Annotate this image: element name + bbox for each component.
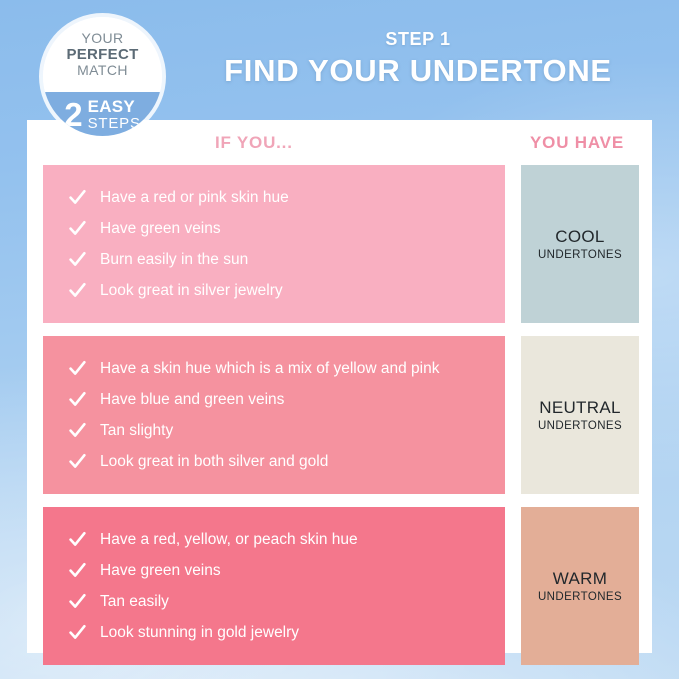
swatch-subtitle: UNDERTONES <box>538 590 622 605</box>
criteria-list: Have a red or pink skin hueHave green ve… <box>43 165 505 323</box>
badge-label-steps: STEPS <box>88 116 141 131</box>
criteria-item: Burn easily in the sun <box>69 249 485 270</box>
content-card: IF YOU... YOU HAVE Have a red or pink sk… <box>27 120 652 653</box>
criteria-item: Look great in silver jewelry <box>69 280 485 301</box>
badge-label-easy: EASY <box>88 98 141 115</box>
criteria-item: Have green veins <box>69 218 485 239</box>
criteria-text: Tan easily <box>100 591 485 612</box>
undertone-swatch: COOLUNDERTONES <box>521 165 639 323</box>
undertone-row: Have a red, yellow, or peach skin hueHav… <box>43 507 640 665</box>
badge-top-half: YOUR PERFECT MATCH <box>43 17 162 92</box>
criteria-list: Have a red, yellow, or peach skin hueHav… <box>43 507 505 665</box>
undertone-swatch: NEUTRALUNDERTONES <box>521 336 639 494</box>
check-icon <box>69 187 86 208</box>
criteria-item: Have a red, yellow, or peach skin hue <box>69 529 485 550</box>
check-icon <box>69 420 86 441</box>
criteria-text: Have a skin hue which is a mix of yellow… <box>100 358 485 379</box>
criteria-item: Have blue and green veins <box>69 389 485 410</box>
criteria-text: Have a red, yellow, or peach skin hue <box>100 529 485 550</box>
criteria-text: Look great in silver jewelry <box>100 280 485 301</box>
page-title: FIND YOUR UNDERTONE <box>168 52 668 90</box>
badge-line-your: YOUR <box>81 31 123 46</box>
swatch-subtitle: UNDERTONES <box>538 419 622 434</box>
swatch-subtitle: UNDERTONES <box>538 248 622 263</box>
criteria-text: Have blue and green veins <box>100 389 485 410</box>
criteria-item: Have a skin hue which is a mix of yellow… <box>69 358 485 379</box>
criteria-item: Look stunning in gold jewelry <box>69 622 485 643</box>
check-icon <box>69 280 86 301</box>
column-header-if-you: IF YOU... <box>215 133 293 153</box>
undertone-swatch: WARMUNDERTONES <box>521 507 639 665</box>
badge-line-match: MATCH <box>77 63 128 78</box>
criteria-text: Have a red or pink skin hue <box>100 187 485 208</box>
check-icon <box>69 591 86 612</box>
criteria-item: Look great in both silver and gold <box>69 451 485 472</box>
check-icon <box>69 249 86 270</box>
criteria-item: Tan slighty <box>69 420 485 441</box>
criteria-text: Look great in both silver and gold <box>100 451 485 472</box>
criteria-item: Have a red or pink skin hue <box>69 187 485 208</box>
badge-steps-text: EASY STEPS <box>88 98 141 131</box>
badge-step-count: 2 <box>64 98 82 131</box>
swatch-name: NEUTRAL <box>539 397 620 418</box>
undertone-rows: Have a red or pink skin hueHave green ve… <box>43 165 640 641</box>
check-icon <box>69 218 86 239</box>
check-icon <box>69 560 86 581</box>
column-headers: IF YOU... YOU HAVE <box>27 133 652 161</box>
check-icon <box>69 451 86 472</box>
undertone-infographic: STEP 1 FIND YOUR UNDERTONE YOUR PERFECT … <box>0 0 679 679</box>
criteria-text: Look stunning in gold jewelry <box>100 622 485 643</box>
criteria-item: Have green veins <box>69 560 485 581</box>
undertone-row: Have a skin hue which is a mix of yellow… <box>43 336 640 494</box>
undertone-row: Have a red or pink skin hueHave green ve… <box>43 165 640 323</box>
criteria-text: Have green veins <box>100 218 485 239</box>
criteria-text: Have green veins <box>100 560 485 581</box>
swatch-name: COOL <box>555 226 604 247</box>
step-label: STEP 1 <box>168 28 668 50</box>
swatch-name: WARM <box>553 568 607 589</box>
badge-bottom-half: 2 EASY STEPS <box>43 92 162 136</box>
badge-line-perfect: PERFECT <box>66 47 138 63</box>
check-icon <box>69 622 86 643</box>
check-icon <box>69 358 86 379</box>
criteria-item: Tan easily <box>69 591 485 612</box>
criteria-list: Have a skin hue which is a mix of yellow… <box>43 336 505 494</box>
page-header: STEP 1 FIND YOUR UNDERTONE <box>168 28 668 90</box>
criteria-text: Burn easily in the sun <box>100 249 485 270</box>
perfect-match-badge: YOUR PERFECT MATCH 2 EASY STEPS <box>43 17 162 136</box>
check-icon <box>69 529 86 550</box>
criteria-text: Tan slighty <box>100 420 485 441</box>
column-header-you-have: YOU HAVE <box>518 133 636 153</box>
check-icon <box>69 389 86 410</box>
